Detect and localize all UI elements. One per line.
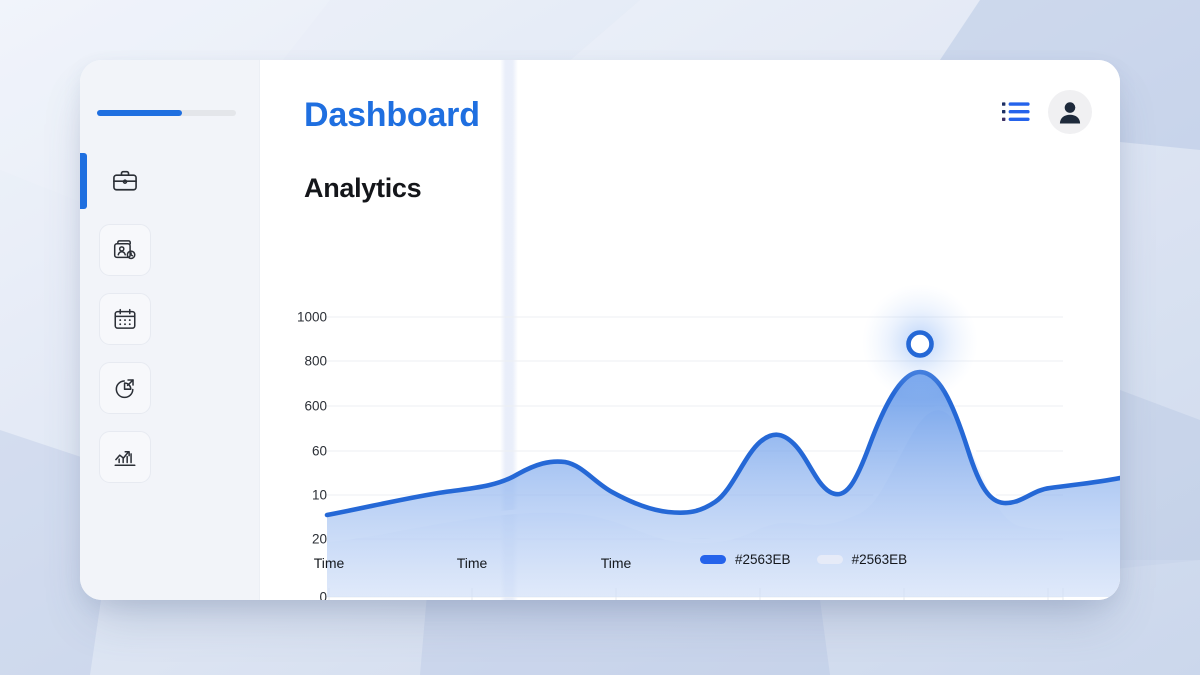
- calendar-icon: [112, 306, 138, 332]
- legend-label: #2563EB: [852, 552, 908, 567]
- legend-swatch: [700, 555, 726, 564]
- progress-bar-fill: [97, 110, 182, 116]
- legend-label: #2563EB: [735, 552, 791, 567]
- y-tick-label: 60: [267, 444, 327, 459]
- user-icon: [1055, 97, 1085, 127]
- growth-chart-icon: [112, 444, 138, 470]
- y-tick-label: 20: [267, 532, 327, 547]
- chart-canvas: [260, 220, 1120, 600]
- y-tick-label: 600: [267, 399, 327, 414]
- sidebar-nav: [99, 155, 151, 500]
- legend-swatch: [817, 555, 843, 564]
- briefcase-icon: [111, 167, 139, 195]
- list-icon[interactable]: [1002, 101, 1030, 123]
- page-title: Dashboard: [304, 96, 480, 135]
- sidebar-item-reports[interactable]: [99, 362, 151, 414]
- y-tick-label: 10: [267, 488, 327, 503]
- x-tick-label: Time: [601, 555, 632, 571]
- main-content: Dashboard Analytics: [260, 60, 1120, 600]
- legend-item[interactable]: #2563EB: [700, 552, 791, 567]
- active-item-indicator: [80, 153, 87, 209]
- sidebar-item-calendar[interactable]: [99, 293, 151, 345]
- y-tick-label: 800: [267, 354, 327, 369]
- header-actions: [1002, 90, 1092, 134]
- analytics-chart: 1000 800 600 60 10 20 0 Time Time Time #…: [260, 220, 1120, 600]
- sidebar-item-contacts[interactable]: [99, 224, 151, 276]
- y-tick-label: 0: [267, 590, 327, 601]
- y-axis: 1000 800 600 60 10 20 0: [260, 220, 327, 540]
- sidebar-item-briefcase[interactable]: [99, 155, 151, 207]
- sidebar: [80, 60, 260, 600]
- pie-chart-icon: [112, 375, 138, 401]
- y-tick-label: 1000: [267, 310, 327, 325]
- app-window: Dashboard Analytics: [80, 60, 1120, 600]
- x-tick-label: Time: [314, 555, 345, 571]
- x-tick-label: Time: [457, 555, 488, 571]
- section-title: Analytics: [304, 173, 421, 204]
- chart-legend: #2563EB #2563EB: [700, 552, 907, 567]
- series-1-line: [327, 372, 1120, 515]
- peak-marker[interactable]: [909, 333, 932, 356]
- x-axis: Time Time Time: [260, 555, 1120, 577]
- legend-item[interactable]: #2563EB: [817, 552, 908, 567]
- avatar[interactable]: [1048, 90, 1092, 134]
- list-icon-glyph: [1002, 101, 1030, 123]
- sidebar-item-analytics[interactable]: [99, 431, 151, 483]
- contact-card-icon: [112, 237, 138, 263]
- progress-bar-track: [97, 110, 236, 116]
